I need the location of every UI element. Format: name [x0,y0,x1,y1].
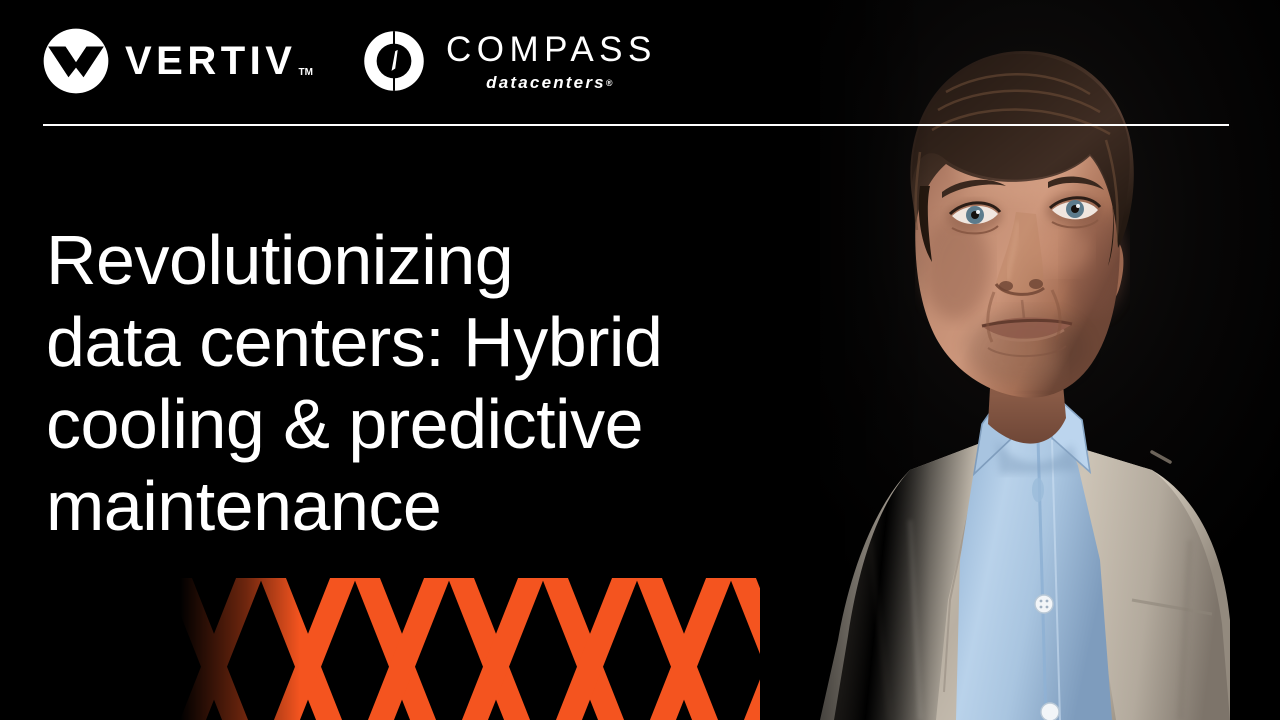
compass-subwordmark: datacenters® [483,74,614,91]
head [915,95,1124,397]
logo-bar: VERTIV TM COMPASS datacenters® [43,28,657,94]
compass-datacenters-logo[interactable]: COMPASS datacenters® [363,30,657,92]
vertiv-trademark: TM [298,68,312,78]
jacket [820,442,1230,720]
orange-zigzag-chevron-graphic [180,578,840,720]
neck [988,350,1066,444]
vertiv-wordmark: VERTIV [125,41,296,81]
header-divider-rule [43,124,1229,126]
compass-wordmark: COMPASS [441,32,657,67]
compass-needle-disc-icon [363,30,425,92]
registered-mark: ® [606,78,615,88]
dress-shirt [956,400,1112,720]
vertiv-chevron-circle-icon [43,28,109,94]
video-thumbnail-slide: VERTIV TM COMPASS datacenters® [0,0,1280,720]
vertiv-logo[interactable]: VERTIV TM [43,28,313,94]
hair [910,51,1133,266]
page-title: Revolutionizing data centers: Hybrid coo… [46,219,806,547]
